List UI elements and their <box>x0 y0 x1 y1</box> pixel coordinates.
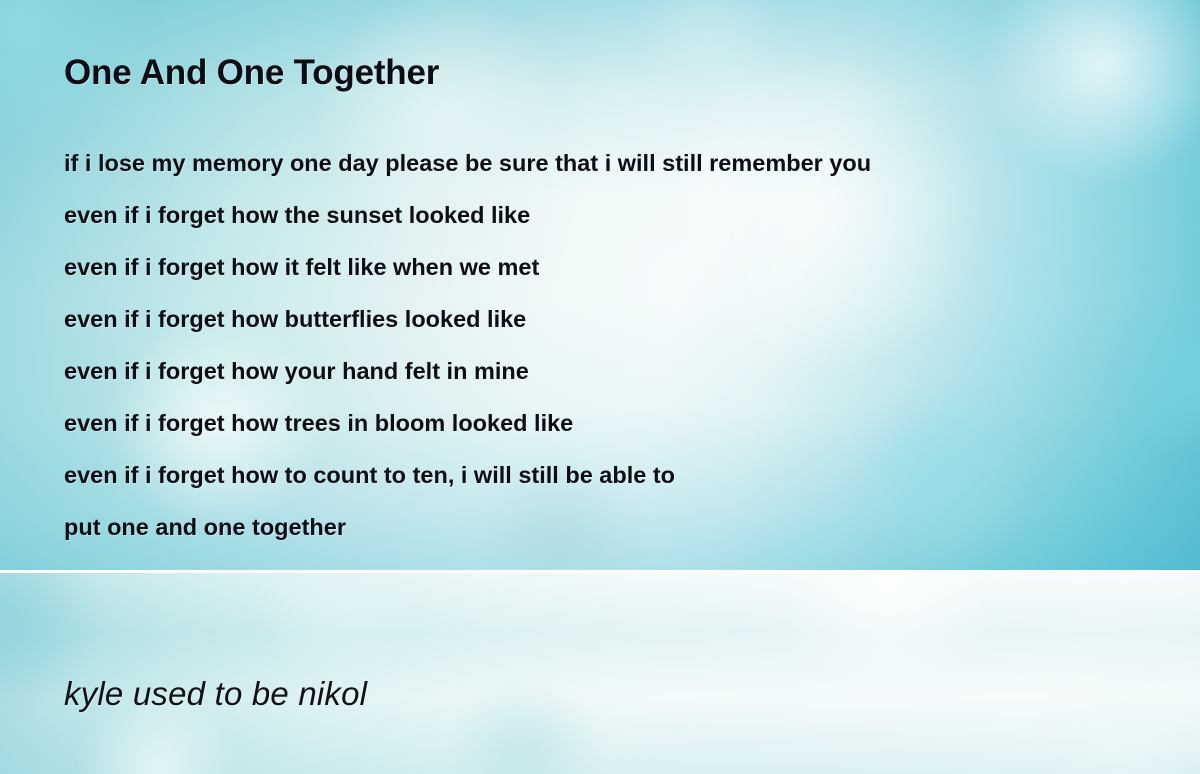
poem-line: if i lose my memory one day please be su… <box>64 137 1200 189</box>
poem-card: One And One Together if i lose my memory… <box>0 0 1200 774</box>
credit-content: kyle used to be nikol <box>64 573 1200 774</box>
poem-body: if i lose my memory one day please be su… <box>64 137 1200 553</box>
page-title: One And One Together <box>64 0 1200 93</box>
panel-divider <box>0 570 1200 573</box>
poem-line: even if i forget how it felt like when w… <box>64 241 1200 293</box>
poem-line: even if i forget how butterflies looked … <box>64 293 1200 345</box>
credit-panel: kyle used to be nikol <box>0 573 1200 774</box>
poem-panel: One And One Together if i lose my memory… <box>0 0 1200 570</box>
poem-line: even if i forget how trees in bloom look… <box>64 397 1200 449</box>
poem-line: put one and one together <box>64 501 1200 553</box>
poem-line: even if i forget how your hand felt in m… <box>64 345 1200 397</box>
poem-line: even if i forget how to count to ten, i … <box>64 449 1200 501</box>
poem-content: One And One Together if i lose my memory… <box>64 0 1200 553</box>
poem-line: even if i forget how the sunset looked l… <box>64 189 1200 241</box>
author-credit: kyle used to be nikol <box>64 675 367 713</box>
